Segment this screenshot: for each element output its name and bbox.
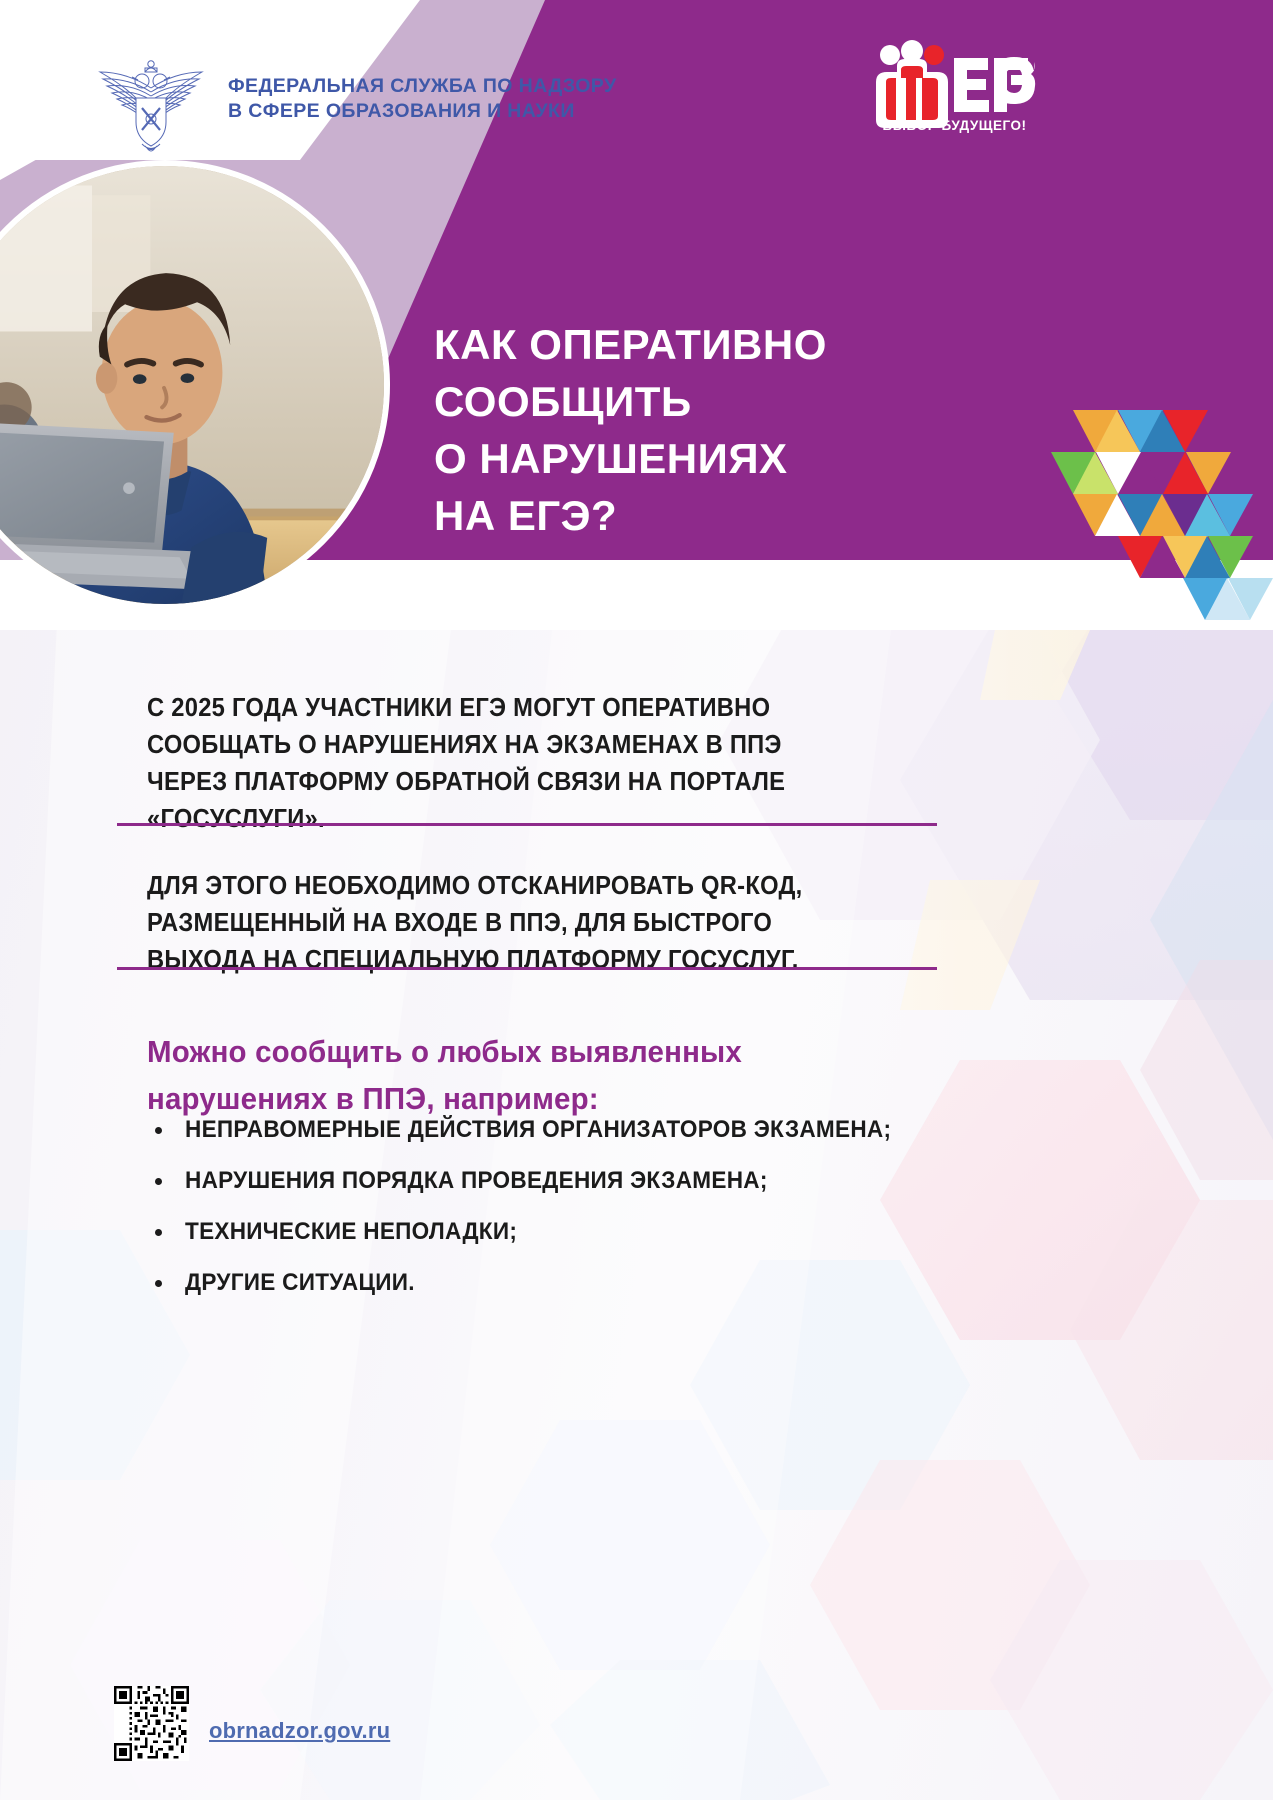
section-subheading: Можно сообщить о любых выявленных наруше… [147, 1028, 907, 1122]
divider-2 [117, 967, 937, 970]
divider-1 [117, 823, 937, 826]
rosobrnadzor-emblem-icon [92, 58, 210, 153]
qr-code[interactable] [114, 1686, 189, 1761]
list-item: НЕПРАВОМЕРНЫЕ ДЕЙСТВИЯ ОРГАНИЗАТОРОВ ЭКЗ… [147, 1113, 947, 1147]
list-item: ДРУГИЕ СИТУАЦИИ. [147, 1266, 947, 1300]
ege-tagline: ВЫБОР БУДУЩЕГО! [872, 118, 1037, 133]
content-area: С 2025 ГОДА УЧАСТНИКИ ЕГЭ МОГУТ ОПЕРАТИВ… [0, 0, 1273, 1800]
violations-list: НЕПРАВОМЕРНЫЕ ДЕЙСТВИЯ ОРГАНИЗАТОРОВ ЭКЗ… [147, 1113, 947, 1317]
paragraph-intro: С 2025 ГОДА УЧАСТНИКИ ЕГЭ МОГУТ ОПЕРАТИВ… [147, 690, 882, 838]
list-item-label: ТЕХНИЧЕСКИЕ НЕПОЛАДКИ; [185, 1215, 517, 1249]
agency-name: ФЕДЕРАЛЬНАЯ СЛУЖБА ПО НАДЗОРУ В СФЕРЕ ОБ… [228, 74, 617, 124]
paragraph-qr-instructions: ДЛЯ ЭТОГО НЕОБХОДИМО ОТСКАНИРОВАТЬ QR-КО… [147, 868, 882, 979]
poster: ФЕДЕРАЛЬНАЯ СЛУЖБА ПО НАДЗОРУ В СФЕРЕ ОБ… [0, 0, 1273, 1800]
list-item: НАРУШЕНИЯ ПОРЯДКА ПРОВЕДЕНИЯ ЭКЗАМЕНА; [147, 1164, 947, 1198]
page-title: КАК ОПЕРАТИВНО СООБЩИТЬ О НАРУШЕНИЯХ НА … [434, 316, 994, 544]
website-link[interactable]: obrnadzor.gov.ru [209, 1718, 390, 1744]
list-item-label: НАРУШЕНИЯ ПОРЯДКА ПРОВЕДЕНИЯ ЭКЗАМЕНА; [185, 1164, 768, 1198]
list-item-label: ДРУГИЕ СИТУАЦИИ. [185, 1266, 415, 1300]
list-item: ТЕХНИЧЕСКИЕ НЕПОЛАДКИ; [147, 1215, 947, 1249]
logo-row: ФЕДЕРАЛЬНАЯ СЛУЖБА ПО НАДЗОРУ В СФЕРЕ ОБ… [0, 0, 1273, 160]
list-item-label: НЕПРАВОМЕРНЫЕ ДЕЙСТВИЯ ОРГАНИЗАТОРОВ ЭКЗ… [185, 1113, 891, 1147]
